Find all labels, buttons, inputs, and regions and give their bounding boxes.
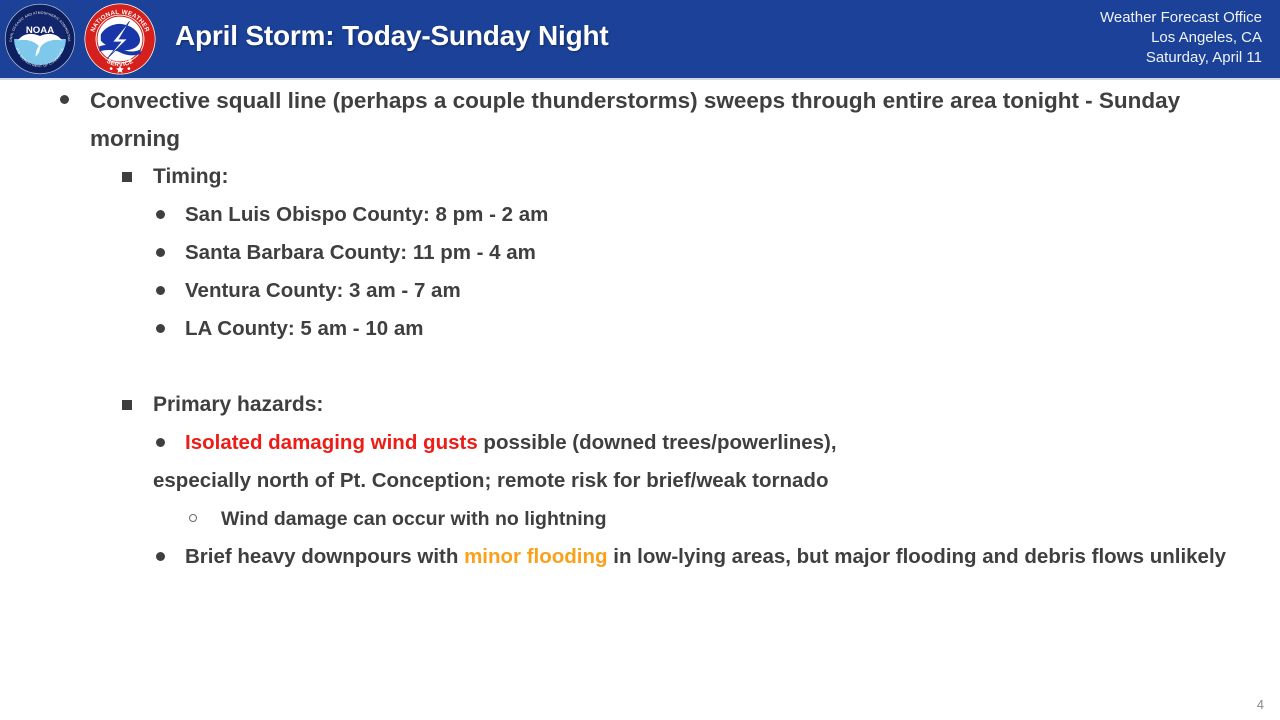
bullet-disc-icon bbox=[60, 95, 69, 104]
bullet-disc-icon bbox=[156, 286, 165, 295]
section-spacer bbox=[0, 348, 1280, 386]
hazard-rain-post: in low-lying areas, but major flooding a… bbox=[608, 545, 1227, 568]
bullet-disc-icon bbox=[156, 248, 165, 257]
office-date: Saturday, April 11 bbox=[1100, 48, 1262, 68]
bullet-disc-icon bbox=[156, 438, 165, 447]
list-item-timing-ventura: Ventura County: 3 am - 7 am bbox=[150, 272, 1280, 310]
bullet-text: Wind damage can occur with no lightning bbox=[221, 508, 607, 530]
page-number: 4 bbox=[1257, 697, 1264, 712]
bullet-disc-icon bbox=[156, 210, 165, 219]
bullet-text: Timing: bbox=[153, 165, 228, 188]
page-title: April Storm: Today-Sunday Night bbox=[175, 20, 609, 52]
bullet-text: LA County: 5 am - 10 am bbox=[185, 317, 423, 340]
noaa-logo-icon: NOAA NATIONAL OCEANIC AND ATMOSPHERIC AD… bbox=[3, 2, 77, 76]
bullet-circle-outline-icon bbox=[189, 514, 197, 522]
svg-text:NOAA: NOAA bbox=[26, 25, 54, 36]
list-item-timing-la: LA County: 5 am - 10 am bbox=[150, 310, 1280, 348]
bullet-square-icon bbox=[122, 172, 132, 182]
nws-logo-icon: NATIONAL WEATHER SERVICE bbox=[83, 2, 157, 76]
list-item-timing-sb: Santa Barbara County: 11 pm - 4 am bbox=[150, 234, 1280, 272]
bullet-disc-icon bbox=[156, 324, 165, 333]
office-name: Weather Forecast Office bbox=[1100, 8, 1262, 28]
bullet-disc-icon bbox=[156, 552, 165, 561]
bullet-text: Santa Barbara County: 11 pm - 4 am bbox=[185, 241, 536, 264]
list-item-hazard-lightning: Wind damage can occur with no lightning bbox=[185, 500, 1280, 538]
bullet-square-icon bbox=[122, 400, 132, 410]
bullet-text: Primary hazards: bbox=[153, 393, 323, 416]
hazard-rain-highlight: minor flooding bbox=[464, 545, 607, 568]
bullet-level2-primary-hazards: Primary hazards: bbox=[118, 386, 1280, 424]
hazard-wind-rest: possible (downed trees/powerlines), bbox=[478, 431, 837, 454]
list-item-hazard-wind: Isolated damaging wind gusts possible (d… bbox=[150, 424, 1280, 500]
bullet-level2-timing: Timing: bbox=[118, 158, 1280, 196]
hazard-wind-highlight: Isolated damaging wind gusts bbox=[185, 431, 478, 454]
list-item-timing-slo: San Luis Obispo County: 8 pm - 2 am bbox=[150, 196, 1280, 234]
bullet-text: San Luis Obispo County: 8 pm - 2 am bbox=[185, 203, 548, 226]
office-location: Los Angeles, CA bbox=[1100, 28, 1262, 48]
slide-body: Convective squall line (perhaps a couple… bbox=[0, 82, 1280, 682]
bullet-text: Convective squall line (perhaps a couple… bbox=[90, 88, 1180, 151]
slide-header: NOAA NATIONAL OCEANIC AND ATMOSPHERIC AD… bbox=[0, 0, 1280, 78]
forecast-office-info: Weather Forecast Office Los Angeles, CA … bbox=[1100, 8, 1262, 68]
bullet-level1-squall-line: Convective squall line (perhaps a couple… bbox=[52, 82, 1265, 158]
hazard-rain-pre: Brief heavy downpours with bbox=[185, 545, 464, 568]
bullet-text: Ventura County: 3 am - 7 am bbox=[185, 279, 461, 302]
hazard-wind-continuation: especially north of Pt. Conception; remo… bbox=[153, 462, 1280, 500]
list-item-hazard-flooding: Brief heavy downpours with minor floodin… bbox=[150, 538, 1280, 576]
header-divider bbox=[0, 78, 1280, 80]
